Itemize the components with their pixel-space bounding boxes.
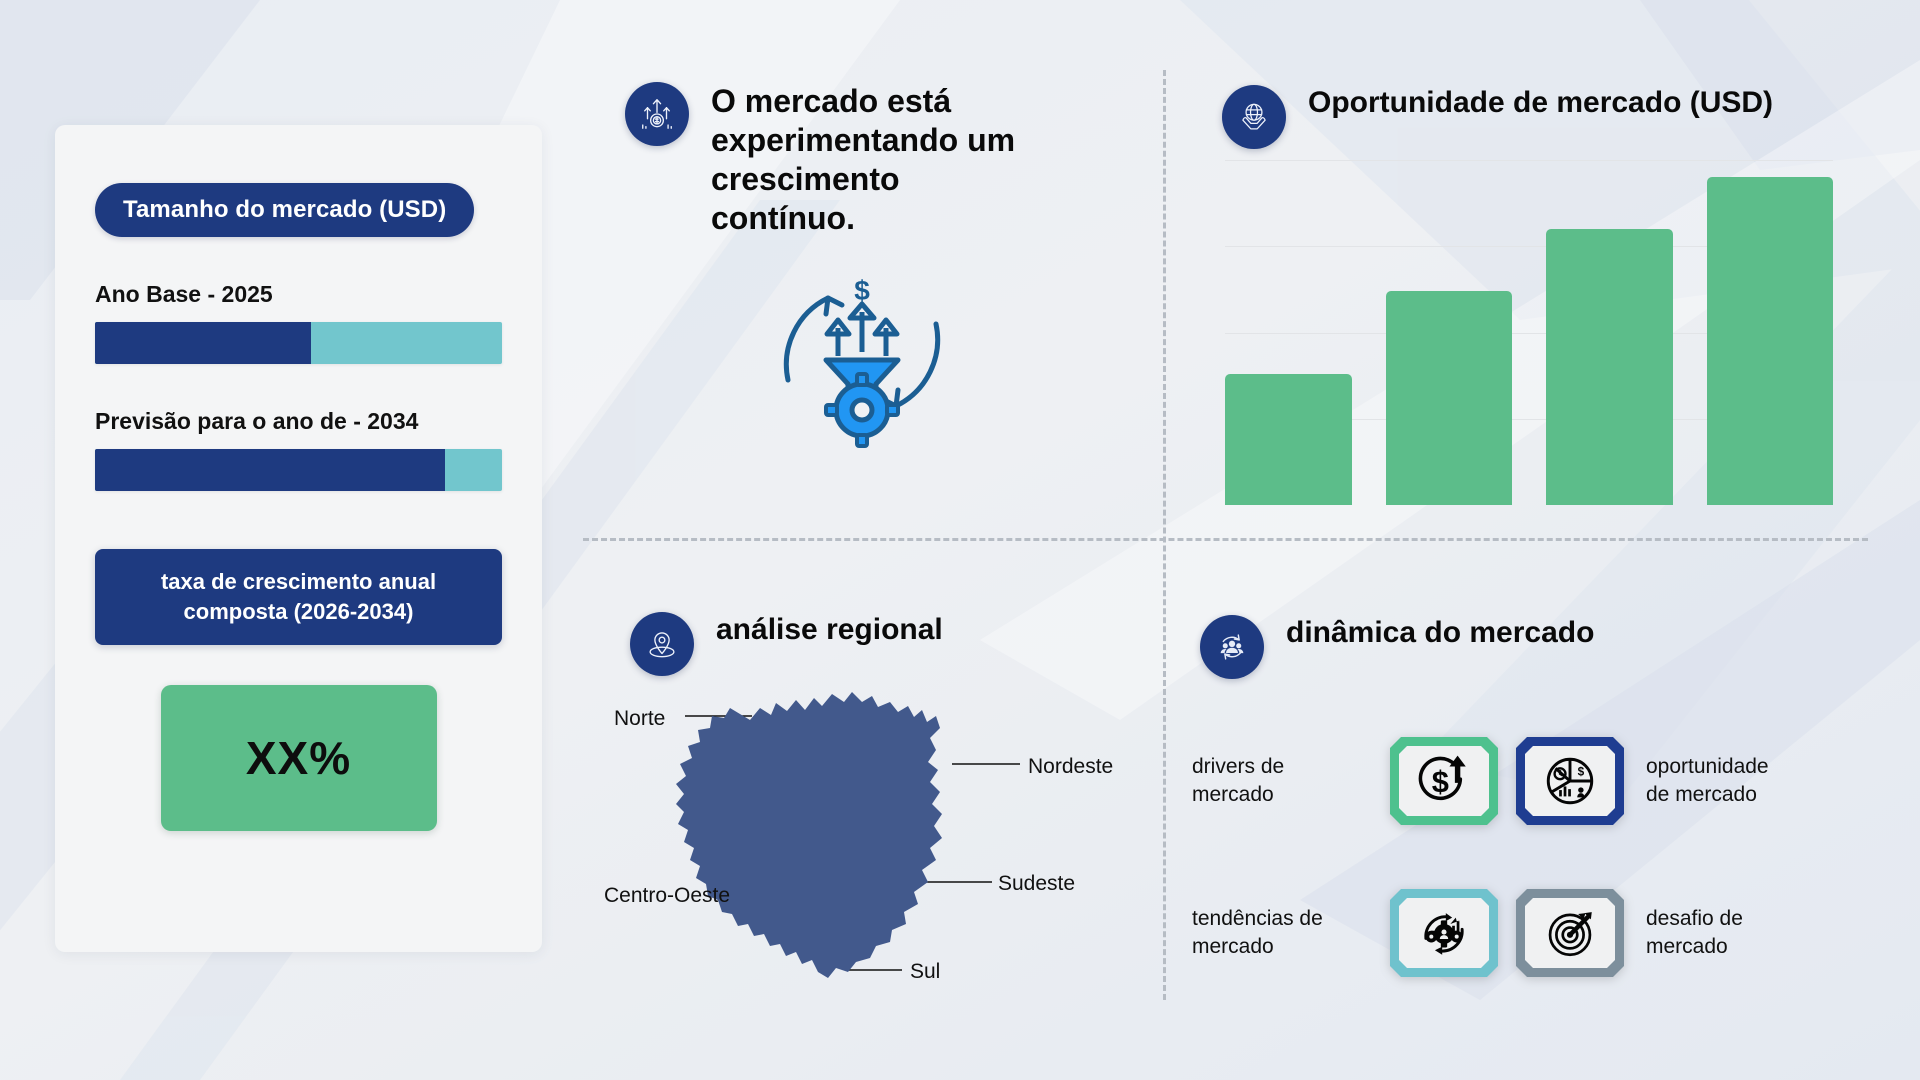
map-label-sul: Sul: [910, 960, 940, 984]
dollar-up-arrow-icon: $: [1415, 752, 1473, 810]
gear-dollar-growth-icon: $: [742, 252, 982, 452]
cagr-label-line1: taxa de crescimento anual: [115, 567, 482, 597]
location-pin-icon: [630, 612, 694, 676]
opportunity-bar-chart: [1225, 160, 1833, 505]
label-line2: mercado: [1192, 781, 1390, 809]
growth-title-line2: experimentando um: [711, 121, 1045, 160]
base-year-label: Ano Base - 2025: [95, 281, 502, 308]
horizontal-divider: [583, 538, 1868, 541]
chart-bar-1: [1225, 374, 1352, 505]
dynamics-card-drivers[interactable]: $: [1390, 737, 1498, 825]
market-size-panel: Tamanho do mercado (USD) Ano Base - 2025…: [55, 125, 542, 952]
label-line1: drivers de: [1192, 753, 1390, 781]
gears-chart-cycle-icon: [1415, 904, 1473, 962]
forecast-year-bar: [95, 449, 502, 491]
label-line1: oportunidade: [1646, 753, 1822, 781]
base-year-bar: [95, 322, 502, 364]
dynamics-row: drivers de mercado $: [1192, 705, 1892, 857]
map-label-nordeste: Nordeste: [1028, 755, 1113, 779]
dart-target-icon: [1541, 904, 1599, 962]
dynamics-label-trends: tendências de mercado: [1192, 905, 1390, 960]
dynamics-section-title: dinâmica do mercado: [1286, 615, 1594, 652]
dynamics-grid: drivers de mercado $: [1192, 705, 1892, 1009]
vertical-divider: [1163, 70, 1166, 1000]
market-size-pill: Tamanho do mercado (USD): [95, 183, 474, 237]
forecast-year-bar-fill: [95, 449, 445, 491]
dynamics-section-header: dinâmica do mercado: [1200, 615, 1594, 679]
label-line2: mercado: [1192, 933, 1390, 961]
growth-section-title: O mercado está experimentando um crescim…: [711, 82, 1045, 238]
chart-bars: [1225, 160, 1833, 505]
dynamics-row: tendências de mercado: [1192, 857, 1892, 1009]
cagr-box: taxa de crescimento anual composta (2026…: [95, 549, 502, 645]
svg-text:$: $: [854, 275, 870, 306]
cagr-value-box: XX%: [161, 685, 437, 831]
opportunity-section-title: Oportunidade de mercado (USD): [1308, 85, 1773, 122]
opportunity-section-header: Oportunidade de mercado (USD): [1222, 85, 1773, 149]
chart-bar-4: [1707, 177, 1834, 505]
regional-section-header: análise regional: [630, 612, 943, 676]
map-label-norte: Norte: [614, 707, 665, 731]
growth-title-line3: crescimento contínuo.: [711, 160, 1045, 238]
label-line1: tendências de: [1192, 905, 1390, 933]
people-cycle-icon: [1200, 615, 1264, 679]
map-label-sudeste: Sudeste: [998, 872, 1075, 896]
forecast-year-label: Previsão para o ano de - 2034: [95, 408, 502, 435]
label-line1: desafio de: [1646, 905, 1822, 933]
dynamics-label-opportunity: oportunidade de mercado: [1624, 753, 1822, 808]
brazil-map-shape: [676, 692, 942, 978]
dynamics-label-challenge: desafio de mercado: [1624, 905, 1822, 960]
dynamics-card-opportunity[interactable]: $: [1516, 737, 1624, 825]
infographic-root: Tamanho do mercado (USD) Ano Base - 2025…: [0, 0, 1920, 1080]
dynamics-card-trends[interactable]: [1390, 889, 1498, 977]
chart-bar-3: [1546, 229, 1673, 505]
label-line2: mercado: [1646, 933, 1822, 961]
growth-arrows-coin-icon: [625, 82, 689, 146]
svg-text:$: $: [1578, 766, 1585, 779]
growth-section-header: O mercado está experimentando um crescim…: [625, 82, 1045, 238]
cagr-label-line2: composta (2026-2034): [115, 597, 482, 627]
label-line2: de mercado: [1646, 781, 1822, 809]
map-label-centro-oeste: Centro-Oeste: [604, 884, 730, 908]
dynamics-card-challenge[interactable]: [1516, 889, 1624, 977]
base-year-bar-fill: [95, 322, 311, 364]
dynamics-label-drivers: drivers de mercado: [1192, 753, 1390, 808]
pie-chart-segments-icon: $: [1541, 752, 1599, 810]
globe-in-hands-icon: [1222, 85, 1286, 149]
growth-title-line1: O mercado está: [711, 82, 1045, 121]
regional-section-title: análise regional: [716, 612, 943, 649]
brazil-map-area: Norte Nordeste Sudeste Centro-Oeste Sul: [600, 672, 1160, 1012]
brazil-map: [600, 672, 1160, 1012]
svg-text:$: $: [1432, 764, 1449, 799]
chart-bar-2: [1386, 291, 1513, 505]
